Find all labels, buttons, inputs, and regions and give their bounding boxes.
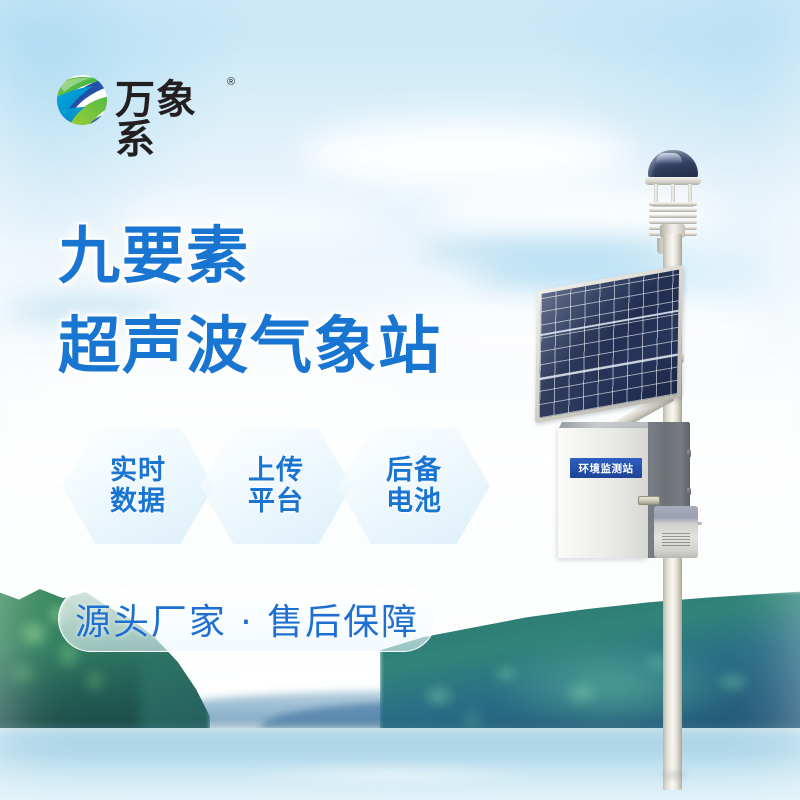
shield-fin xyxy=(649,208,697,212)
guarantee-banner: 源头厂家 · 售后保障 xyxy=(58,586,436,652)
shield-fin xyxy=(649,202,697,206)
shield-fin xyxy=(649,214,697,218)
feature-badge-line-2: 平台 xyxy=(248,486,304,517)
headline-line-2: 超声波气象站 xyxy=(58,315,442,377)
solar-panel-icon xyxy=(535,265,683,423)
feature-badge-backup-battery[interactable]: 后备 电池 xyxy=(338,428,490,544)
feature-badge-realtime-data[interactable]: 实时 数据 xyxy=(62,428,214,544)
transducer-arm xyxy=(688,184,692,204)
globe-swirl-logo-icon xyxy=(55,72,109,128)
page-title: 九要素 超声波气象站 xyxy=(58,225,442,377)
solar-panel-sheen xyxy=(539,270,679,419)
mast-ground-shadow xyxy=(650,768,698,782)
feature-badge-label: 实时 数据 xyxy=(110,455,166,517)
feature-badge-label: 后备 电池 xyxy=(386,455,442,517)
feature-badge-list: 实时 数据 上传 平台 后备 电池 xyxy=(62,428,492,544)
equipment-cabinet-icon: 环境监测站 xyxy=(558,422,693,562)
transducer-arm xyxy=(671,184,675,204)
product-poster: 环境监测站 xyxy=(0,0,800,800)
battery-box-vent xyxy=(662,532,690,546)
cabinet-latch xyxy=(638,496,660,505)
cabinet-label: 环境监测站 xyxy=(570,458,642,478)
cabinet-door xyxy=(558,428,648,558)
sensor-dome-gloss xyxy=(656,153,682,164)
feature-badge-line-1: 实时 xyxy=(110,455,166,486)
weather-station-product: 环境监测站 xyxy=(500,140,800,800)
feature-badge-label: 上传 平台 xyxy=(248,455,304,517)
cabinet-hinge xyxy=(687,488,691,495)
transducer-arm xyxy=(654,184,658,204)
guarantee-banner-text: 源头厂家 · 售后保障 xyxy=(75,593,419,645)
headline-line-1: 九要素 xyxy=(58,225,442,287)
cabinet-hinge xyxy=(687,450,691,457)
brand-logo[interactable]: 万象系 ® xyxy=(55,70,235,130)
feature-badge-line-1: 后备 xyxy=(386,455,442,486)
feature-badge-upload-platform[interactable]: 上传 平台 xyxy=(200,428,352,544)
feature-badge-line-2: 电池 xyxy=(386,486,442,517)
registered-trademark-icon: ® xyxy=(227,76,235,88)
brand-name: 万象系 xyxy=(115,80,235,160)
feature-badge-line-1: 上传 xyxy=(248,455,304,486)
cabinet-label-text: 环境监测站 xyxy=(579,461,634,476)
transducer-arms xyxy=(652,184,694,204)
feature-badge-line-2: 数据 xyxy=(110,486,166,517)
